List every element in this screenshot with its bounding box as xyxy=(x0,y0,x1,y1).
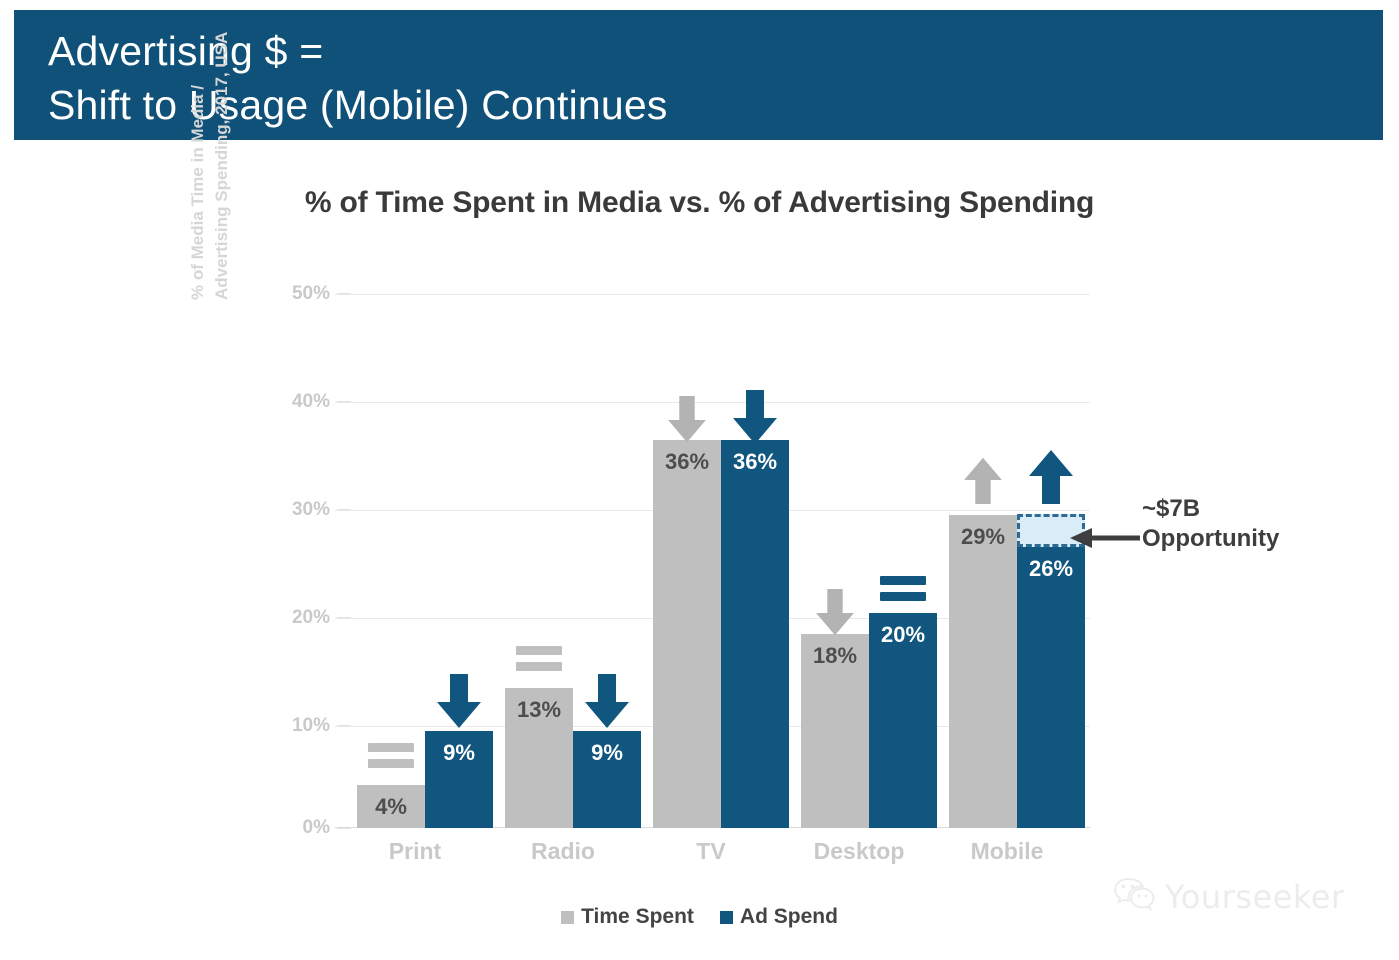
gridline-50 xyxy=(335,294,1090,295)
opportunity-callout-arrow-icon xyxy=(1068,527,1142,554)
y-axis-label: % of Media Time in Media / Advertising S… xyxy=(186,0,234,300)
wechat-icon xyxy=(1113,876,1155,917)
trend-down-arrow-icon-ad-spend-tv xyxy=(731,390,777,446)
bar-value-time-spent-print: 4% xyxy=(357,794,425,820)
bar-ad-spend-desktop[interactable]: 20% xyxy=(869,613,937,828)
header-title-line-1: Advertising $ = xyxy=(48,24,1383,78)
y-tick-label-0: 0% xyxy=(268,817,330,839)
trend-down-arrow-icon-time-spent-tv xyxy=(665,396,711,444)
bar-value-time-spent-mobile: 29% xyxy=(949,524,1017,550)
legend-item-time-spent[interactable]: Time Spent xyxy=(561,905,694,929)
y-tick-label-40: 40% xyxy=(268,391,330,413)
plot-area: 4% 9% 13% 9% 36% 36% xyxy=(335,288,1090,828)
bar-value-time-spent-desktop: 18% xyxy=(801,643,869,669)
header-title-line-2: Shift to Usage (Mobile) Continues xyxy=(48,78,1383,132)
gridline-40 xyxy=(335,402,1090,403)
bar-ad-spend-radio[interactable]: 9% xyxy=(573,731,641,828)
opportunity-annotation: ~$7B Opportunity xyxy=(1142,494,1382,554)
bar-time-spent-print[interactable]: 4% xyxy=(357,785,425,828)
bar-ad-spend-print[interactable]: 9% xyxy=(425,731,493,828)
legend-swatch-ad-spend-icon xyxy=(720,911,733,924)
bar-value-ad-spend-radio: 9% xyxy=(573,740,641,766)
bar-time-spent-tv[interactable]: 36% xyxy=(653,440,721,828)
y-axis-label-line-1: % of Media Time in Media / xyxy=(186,0,210,300)
legend-item-ad-spend[interactable]: Ad Spend xyxy=(720,905,838,929)
trend-equals-icon-time-spent-radio xyxy=(516,646,562,678)
legend-label-ad-spend: Ad Spend xyxy=(740,905,838,929)
opportunity-amount: ~$7B xyxy=(1142,494,1382,524)
bar-value-ad-spend-tv: 36% xyxy=(721,449,789,475)
y-tick-label-20: 20% xyxy=(268,607,330,629)
watermark: Yourseeker xyxy=(1113,876,1345,917)
trend-down-arrow-icon-ad-spend-radio xyxy=(583,674,629,730)
trend-down-arrow-icon-ad-spend-print xyxy=(435,674,481,730)
bar-value-ad-spend-desktop: 20% xyxy=(869,622,937,648)
trend-equals-icon-time-spent-print xyxy=(368,743,414,775)
legend-label-time-spent: Time Spent xyxy=(581,905,694,929)
legend-swatch-time-spent-icon xyxy=(561,911,574,924)
y-axis-label-line-2: Advertising Spending, 2017, USA xyxy=(210,0,234,300)
bar-time-spent-desktop[interactable]: 18% xyxy=(801,634,869,828)
bar-time-spent-radio[interactable]: 13% xyxy=(505,688,573,828)
bar-value-time-spent-radio: 13% xyxy=(505,697,573,723)
y-tick-label-10: 10% xyxy=(268,715,330,737)
bar-value-ad-spend-mobile: 26% xyxy=(1017,556,1085,582)
watermark-text: Yourseeker xyxy=(1165,878,1345,916)
bar-value-time-spent-tv: 36% xyxy=(653,449,721,475)
y-tick-label-50: 50% xyxy=(268,283,330,305)
bar-time-spent-mobile[interactable]: 29% xyxy=(949,515,1017,828)
trend-down-arrow-icon-time-spent-desktop xyxy=(813,589,859,637)
trend-up-arrow-icon-ad-spend-mobile xyxy=(1027,448,1073,504)
bar-ad-spend-tv[interactable]: 36% xyxy=(721,440,789,828)
bar-ad-spend-mobile[interactable]: 26% xyxy=(1017,547,1085,828)
x-tick-label-mobile: Mobile xyxy=(917,838,1097,865)
trend-up-arrow-icon-time-spent-mobile xyxy=(961,456,1007,504)
bar-value-ad-spend-print: 9% xyxy=(425,740,493,766)
y-tick-label-30: 30% xyxy=(268,499,330,521)
opportunity-label: Opportunity xyxy=(1142,524,1382,554)
trend-equals-icon-ad-spend-desktop xyxy=(880,576,926,608)
